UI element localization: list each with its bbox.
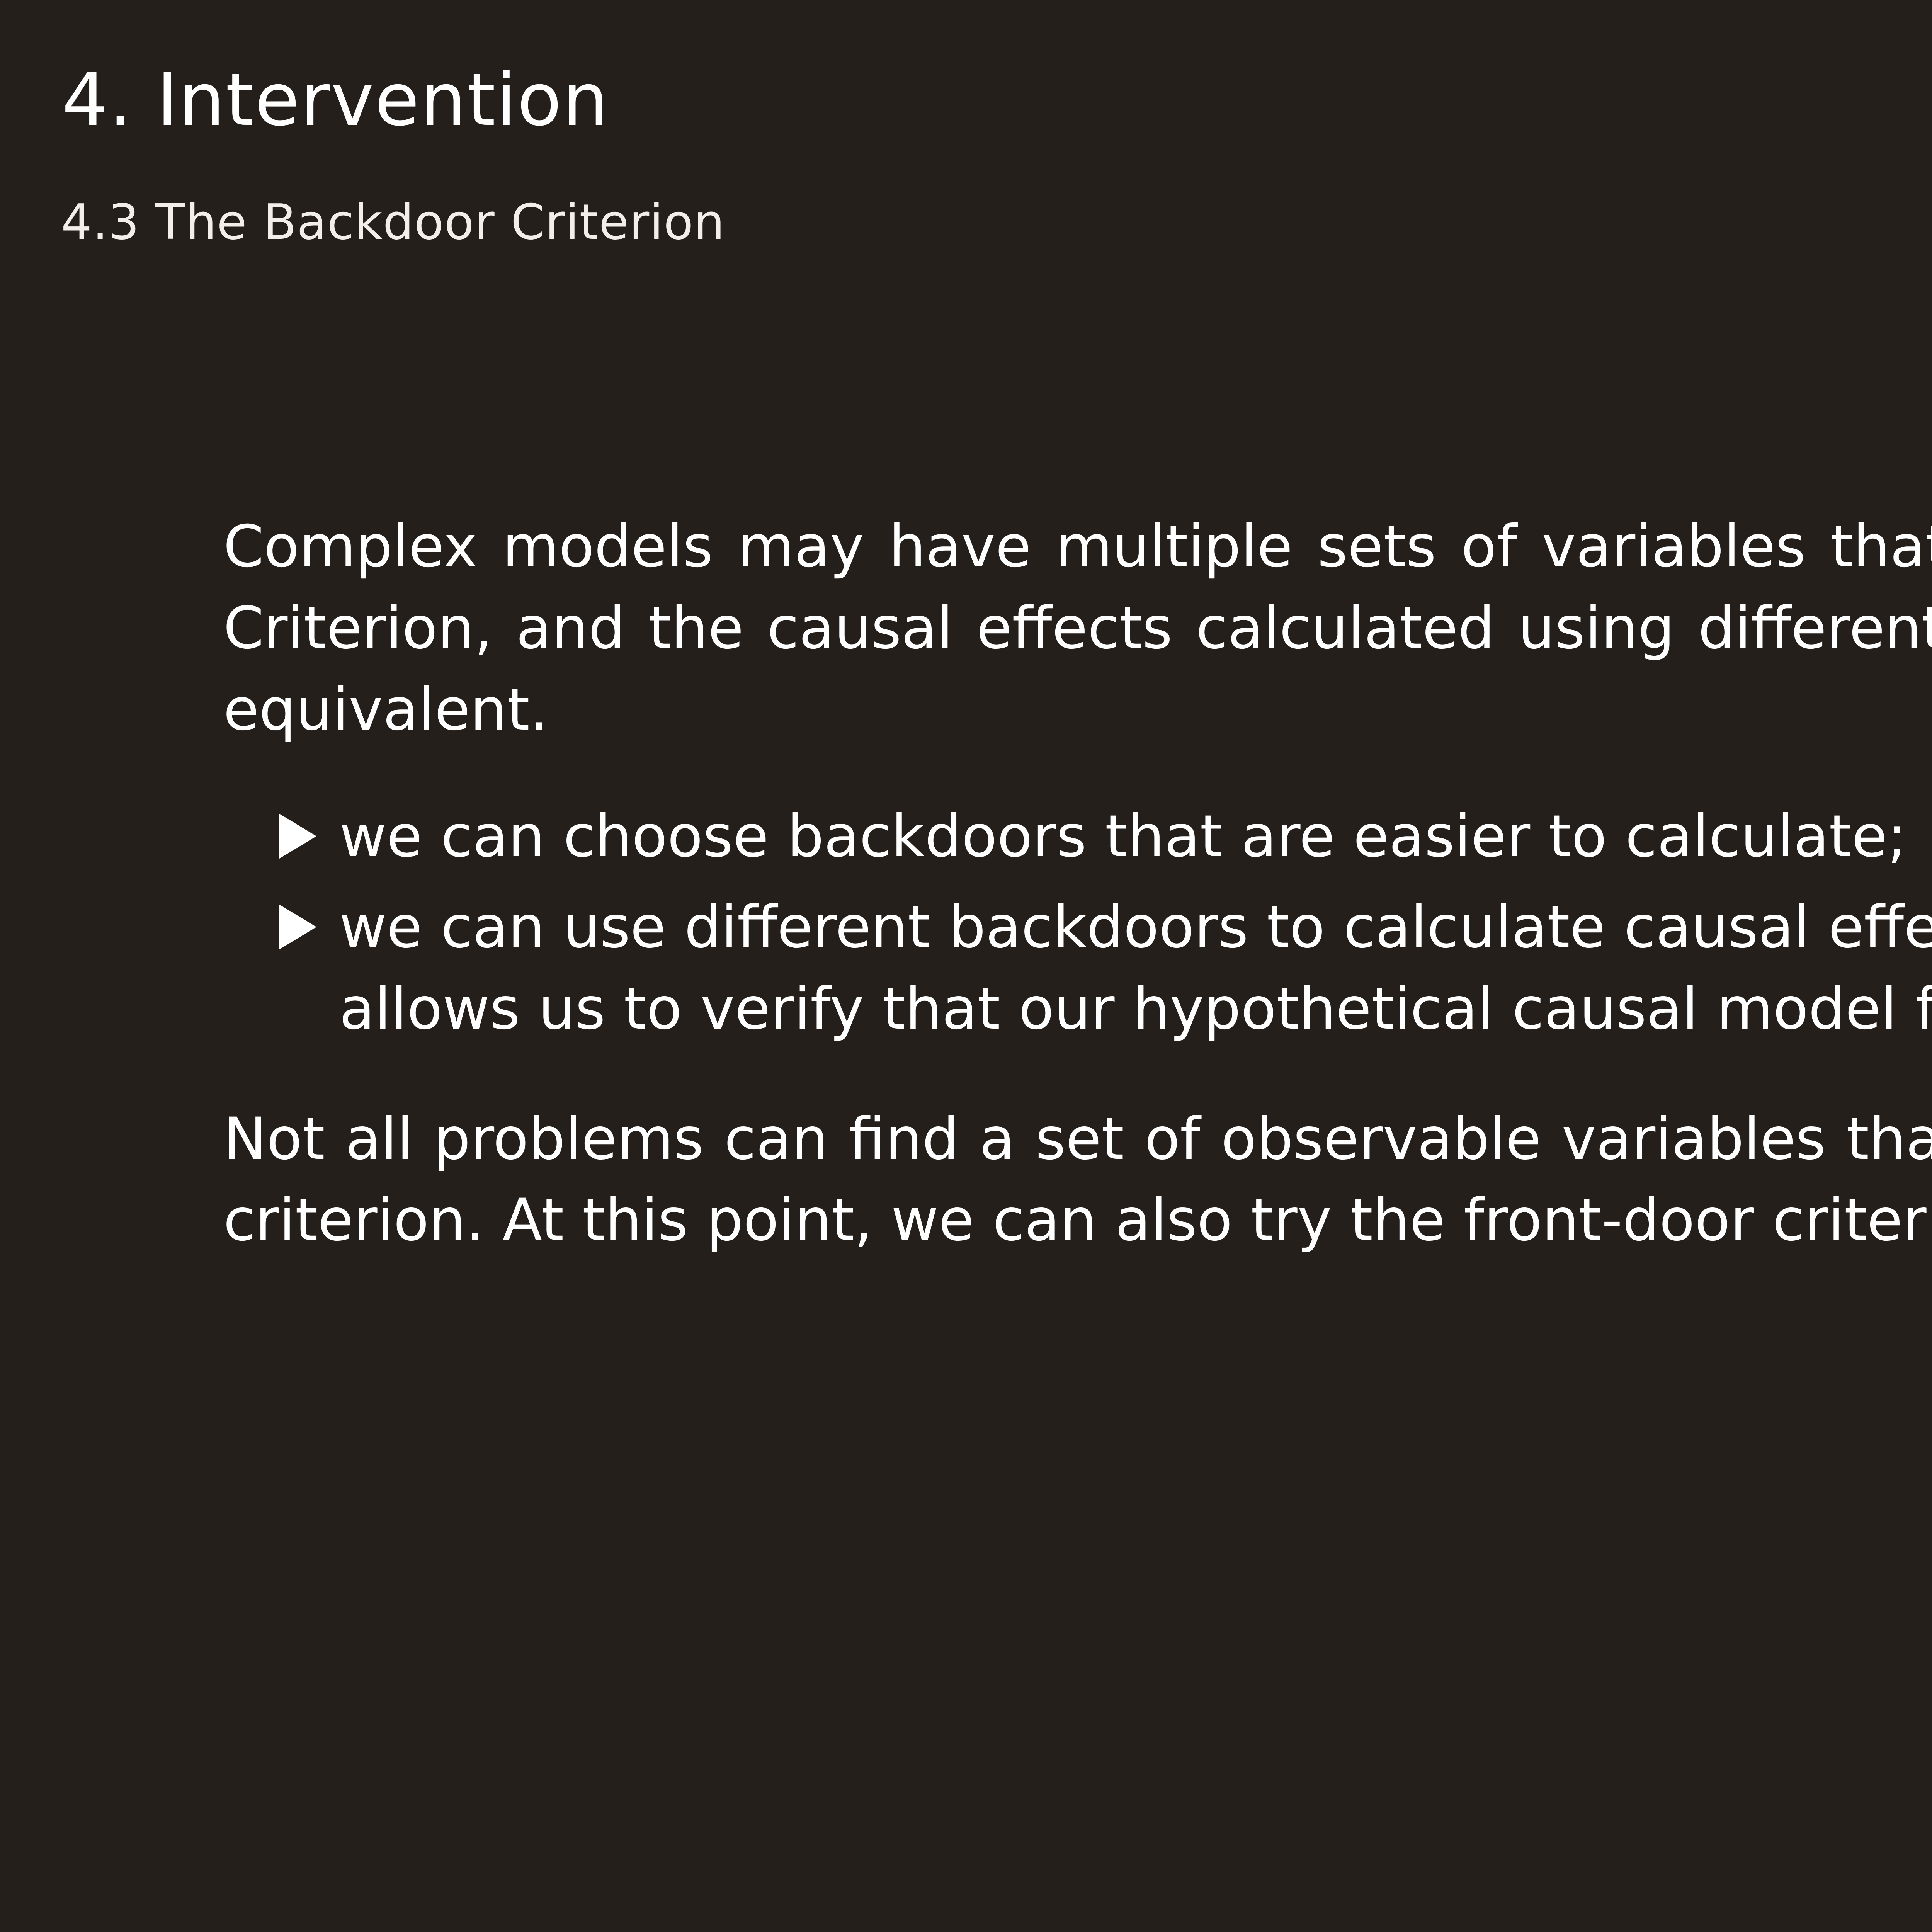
slide-header: 4. Intervention 4.3 The Backdoor Criteri… bbox=[0, 0, 1932, 305]
list-item-label: we can choose backdoors that are easier … bbox=[339, 803, 1907, 870]
list-item: we can use different backdoors to calcul… bbox=[223, 887, 1932, 1050]
intro-paragraph: Complex models may have multiple sets of… bbox=[223, 506, 1932, 750]
list-item: we can choose backdoors that are easier … bbox=[223, 796, 1932, 878]
outro-paragraph: Not all problems can find a set of obser… bbox=[223, 1099, 1932, 1262]
page-title: 4. Intervention bbox=[62, 64, 609, 136]
triangle-bullet-icon bbox=[279, 905, 316, 949]
list-item-label: we can use different backdoors to calcul… bbox=[339, 894, 1932, 1043]
bullet-list: we can choose backdoors that are easier … bbox=[223, 796, 1932, 1049]
triangle-bullet-icon bbox=[279, 814, 316, 859]
slide-content: Complex models may have multiple sets of… bbox=[223, 506, 1932, 1261]
page-subtitle: 4.3 The Backdoor Criterion bbox=[61, 198, 725, 247]
